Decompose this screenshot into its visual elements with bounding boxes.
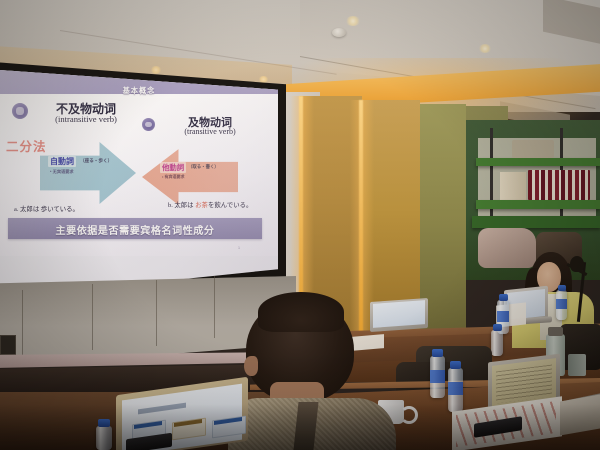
- downlight-icon: [345, 16, 361, 26]
- example-b-suffix: を飲んでいる。: [208, 202, 252, 209]
- verb-badge-icon: [142, 118, 155, 131]
- tadoushi-examples: （取る・書く）: [188, 164, 219, 170]
- slide-title: 基本概念: [0, 86, 278, 96]
- backpack: [478, 228, 536, 268]
- panel-seam: [214, 276, 215, 338]
- transitive-heading-en: (transitive verb): [156, 127, 264, 136]
- panel-seam: [92, 284, 93, 350]
- downlight-icon: [478, 44, 492, 53]
- shelf-post: [490, 128, 493, 228]
- verb-badge-icon: [12, 103, 28, 119]
- bottle-label: [448, 382, 463, 395]
- books-stack: [500, 172, 526, 200]
- panel-seam: [156, 280, 157, 346]
- shelf-counter: [472, 216, 600, 228]
- dichotomy-label: 二分法: [6, 136, 47, 155]
- microphone-icon: [570, 256, 584, 272]
- slide-title-rule: [52, 97, 228, 98]
- example-sentence-b: b. 太郎は お茶を飲んでいる。: [168, 200, 252, 209]
- vertical-led-strip: [359, 100, 363, 344]
- bottle-cap: [558, 285, 566, 291]
- bottle-label: [430, 370, 445, 383]
- jidoushi-bullet: • 无宾语要求: [50, 169, 74, 175]
- attendee-ear: [244, 356, 258, 376]
- laptop-screen: [373, 300, 425, 328]
- bottle-cap: [493, 324, 502, 331]
- slide-page-number: 1: [238, 246, 240, 250]
- shelf-storage-box: [512, 140, 554, 158]
- conference-room-photo: 基本概念 不及物动词 (intransitive verb) 及物动词 (tra…: [0, 0, 600, 450]
- laptop-screen-text: [496, 365, 552, 404]
- shelf-plank: [476, 158, 600, 166]
- slide-conclusion-text: 主要依据是否需要宾格名词性成分: [8, 222, 262, 237]
- bottle-label: [497, 311, 509, 322]
- water-bottle: [491, 330, 503, 356]
- thermos-cap: [548, 327, 563, 336]
- jidoushi-examples: （座る・歩く）: [80, 158, 112, 164]
- cup: [568, 354, 586, 376]
- shelf-plank: [476, 200, 600, 209]
- books-row: [528, 170, 590, 200]
- tadoushi-bullet: • 有宾语要求: [162, 174, 185, 180]
- mug-handle: [400, 406, 418, 424]
- bottle-label: [556, 299, 567, 309]
- bottle-cap: [98, 419, 110, 427]
- example-b-object: お茶: [195, 202, 208, 209]
- bottle-cap: [432, 349, 443, 357]
- jidoushi-term: 自動詞: [48, 156, 76, 167]
- water-bottle: [96, 426, 112, 450]
- panel-seam: [22, 290, 23, 356]
- tadoushi-term: 他動詞: [160, 162, 186, 173]
- transitive-arrow: [142, 148, 238, 206]
- wall-outlet: [0, 335, 16, 355]
- intransitive-heading-en: (intransitive verb): [32, 114, 140, 124]
- attendee-hair: [258, 292, 344, 332]
- example-sentence-a: a. 太郎は 歩いている。: [14, 204, 79, 213]
- bottle-cap: [450, 361, 461, 369]
- presentation-slide: 基本概念 不及物动词 (intransitive verb) 及物动词 (tra…: [0, 70, 278, 256]
- bottle-cap: [499, 294, 508, 301]
- example-b-prefix: b. 太郎は: [168, 202, 195, 209]
- smoke-detector-icon: [332, 28, 346, 37]
- notebook: [560, 394, 600, 435]
